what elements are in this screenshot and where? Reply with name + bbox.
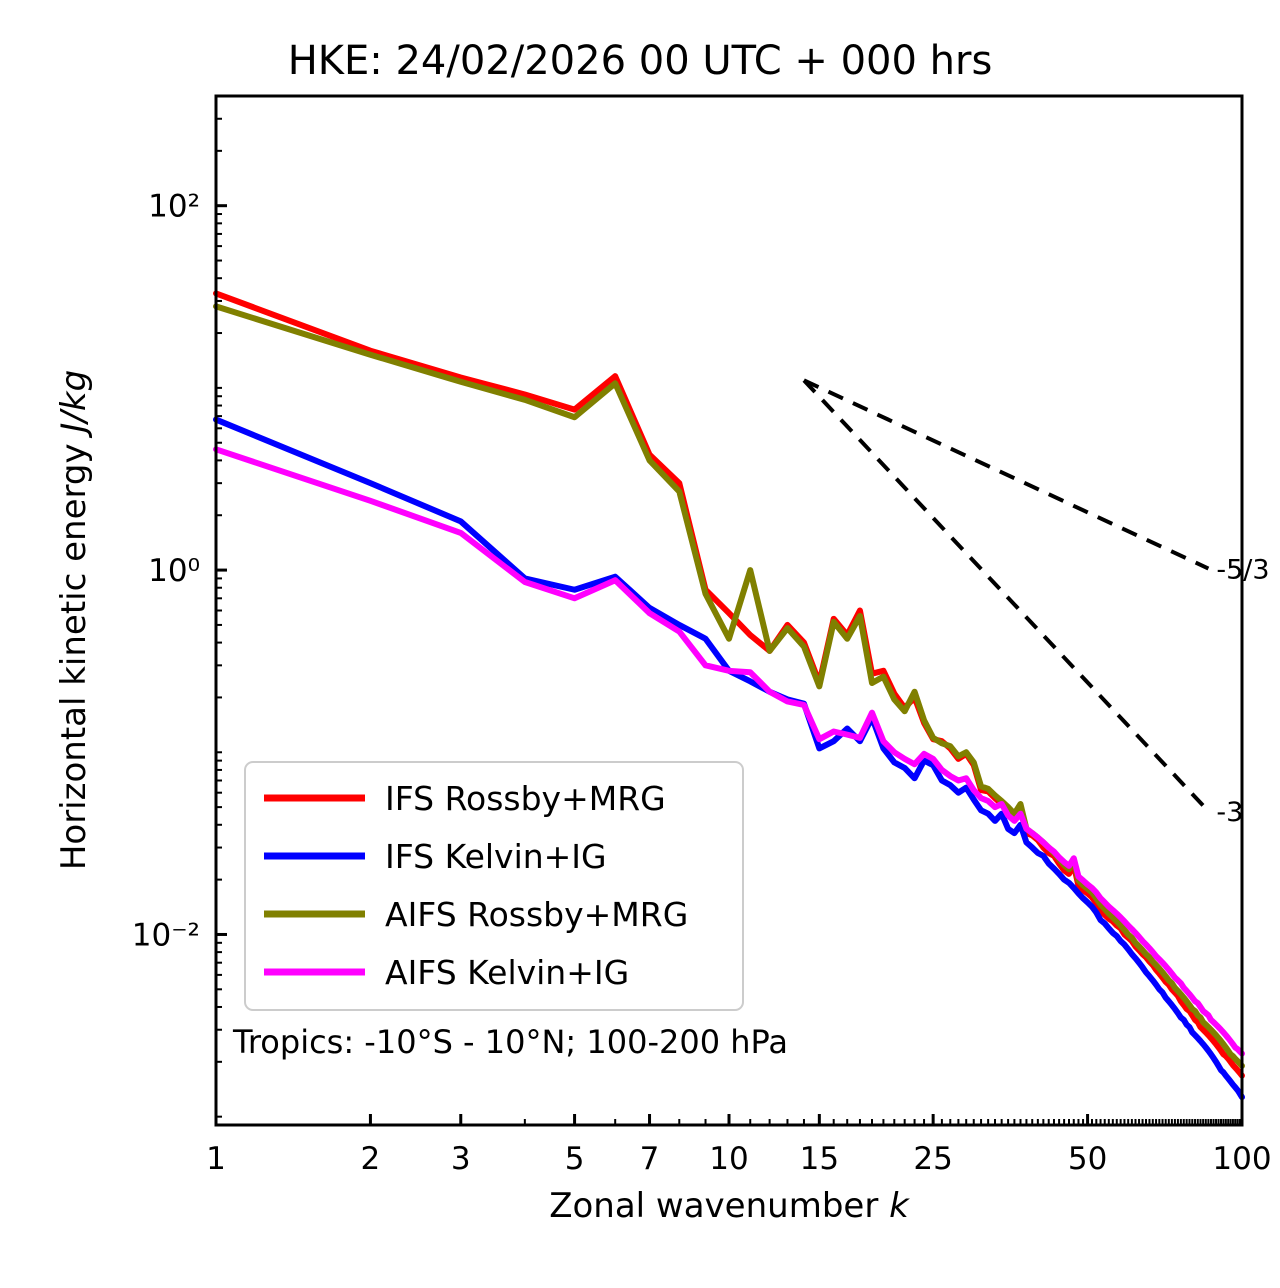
x-tick-label: 10 xyxy=(709,1141,748,1177)
chart-legend[interactable]: IFS Rossby+MRGIFS Kelvin+IGAIFS Rossby+M… xyxy=(245,762,743,1010)
x-tick-label: 15 xyxy=(800,1141,839,1177)
legend-label: AIFS Rossby+MRG xyxy=(385,895,688,934)
x-tick-label: 25 xyxy=(913,1141,952,1177)
legend-label: IFS Kelvin+IG xyxy=(385,837,607,876)
reference-slope-label: -3 xyxy=(1216,797,1243,828)
x-tick-label: 100 xyxy=(1212,1141,1271,1177)
chart-plot-area: 123571015255010010²10⁰10⁻² -5/3-3 IFS Ro… xyxy=(0,0,1280,1288)
region-annotation: Tropics: -10°S - 10°N; 100-200 hPa xyxy=(232,1023,788,1061)
x-tick-label: 2 xyxy=(361,1141,381,1177)
x-tick-label: 5 xyxy=(565,1141,585,1177)
y-tick-label: 10² xyxy=(148,189,200,225)
x-tick-label: 1 xyxy=(206,1141,226,1177)
x-tick-label: 50 xyxy=(1068,1141,1107,1177)
x-tick-label: 7 xyxy=(640,1141,660,1177)
legend-label: IFS Rossby+MRG xyxy=(385,779,666,818)
x-tick-label: 3 xyxy=(451,1141,471,1177)
y-tick-label: 10⁻² xyxy=(132,917,200,953)
y-tick-label: 10⁰ xyxy=(148,553,200,589)
legend-label: AIFS Kelvin+IG xyxy=(385,953,629,992)
chart-page: HKE: 24/02/2026 00 UTC + 000 hrs Horizon… xyxy=(0,0,1280,1288)
